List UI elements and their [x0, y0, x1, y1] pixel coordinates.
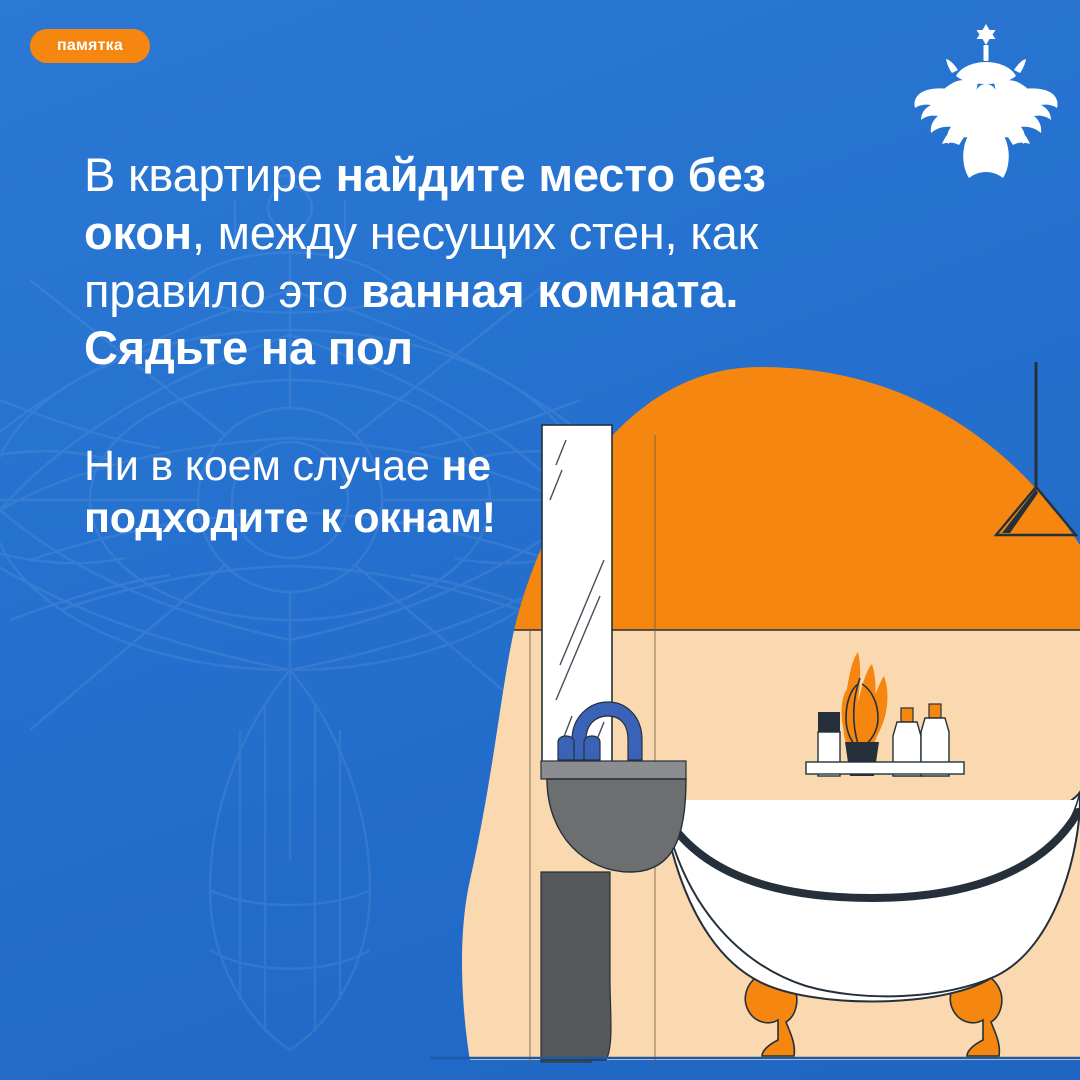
- poster-canvas: памятка: [0, 0, 1080, 1080]
- headline-part-0: В квартире: [84, 148, 336, 201]
- headline-text: В квартире найдите место без окон, между…: [84, 146, 814, 377]
- subhead-part-0: Ни в коем случае: [84, 442, 441, 490]
- headline-block: В квартире найдите место без окон, между…: [84, 146, 814, 377]
- wall-shelf: [806, 762, 964, 774]
- subhead-text: Ни в коем случае не подходите к окнам!: [84, 440, 554, 545]
